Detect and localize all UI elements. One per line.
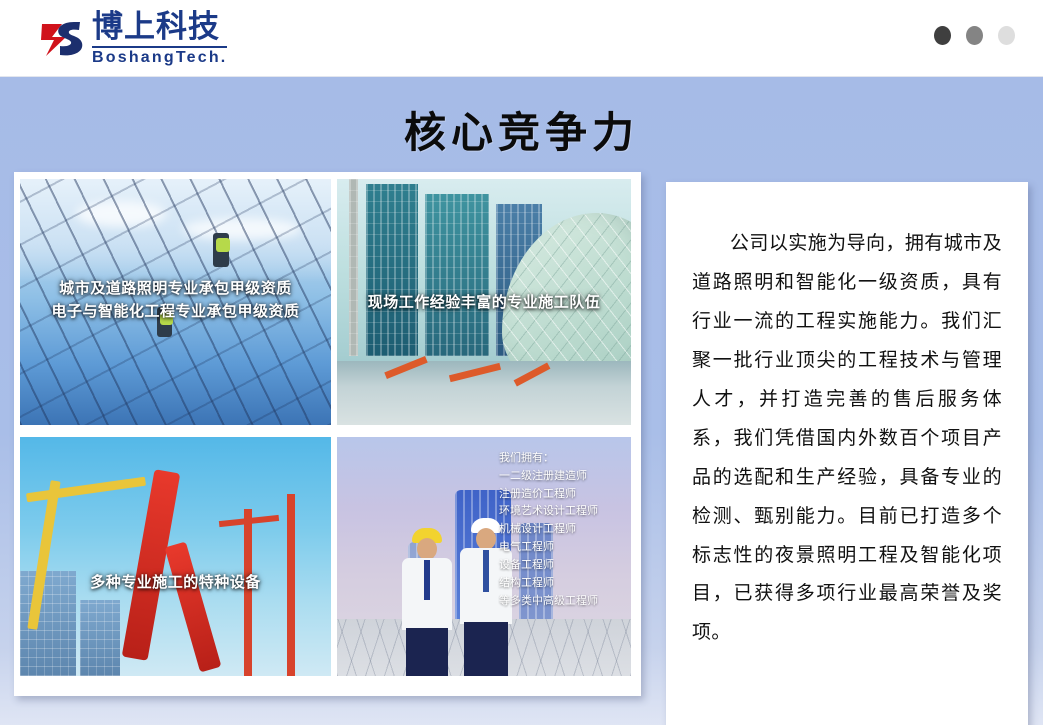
- logo-english-name: BoshangTech.: [92, 46, 227, 66]
- skill-list-item: 机械设计工程师: [499, 520, 621, 538]
- company-logo[interactable]: 博上科技 BoshangTech.: [40, 12, 227, 66]
- photo-caption: 多种专业施工的特种设备: [20, 571, 331, 594]
- caption-line-1: 多种专业施工的特种设备: [90, 573, 261, 591]
- boshang-logo-mark-icon: [40, 18, 86, 60]
- logo-chinese-name: 博上科技: [92, 12, 227, 43]
- window-dot-mid[interactable]: [966, 26, 983, 45]
- window-dot-dark[interactable]: [934, 26, 951, 45]
- photo-caption: 现场工作经验丰富的专业施工队伍: [337, 291, 631, 314]
- engineer-trousers: [406, 628, 448, 676]
- engineer-trousers: [464, 622, 508, 676]
- aerial-lift-boom: [164, 542, 221, 673]
- tower-building: [366, 184, 418, 356]
- skill-list-item: 电气工程师: [499, 538, 621, 556]
- photo-special-equipment[interactable]: 多种专业施工的特种设备: [20, 437, 331, 676]
- photo-glass-facade[interactable]: 城市及道路照明专业承包甲级资质 电子与智能化工程专业承包甲级资质: [20, 179, 331, 425]
- image-grid: 城市及道路照明专业承包甲级资质 电子与智能化工程专业承包甲级资质 现场工作经验丰…: [20, 179, 635, 674]
- photo-construction-site[interactable]: 现场工作经验丰富的专业施工队伍: [337, 179, 631, 425]
- logo-text-block: 博上科技 BoshangTech.: [92, 12, 227, 66]
- photo-engineers[interactable]: 我们拥有： 一二级注册建造师 注册造价工程师 环境艺术设计工程师 机械设计工程师…: [337, 437, 631, 676]
- caption-line-2: 电子与智能化工程专业承包甲级资质: [51, 302, 299, 320]
- engineer-head: [476, 528, 496, 550]
- caption-line-1: 现场工作经验丰富的专业施工队伍: [368, 293, 601, 311]
- description-paragraph: 公司以实施为导向，拥有城市及道路照明和智能化一级资质，具有行业一流的工程实施能力…: [692, 224, 1002, 652]
- engineer-head: [417, 538, 437, 560]
- description-card: 公司以实施为导向，拥有城市及道路照明和智能化一级资质，具有行业一流的工程实施能力…: [666, 182, 1028, 725]
- slide-canvas: 核心竞争力 城市及道路照明专业承包甲级资质 电子与智能化工程专业承包甲级资质: [0, 77, 1043, 725]
- photo-caption: 城市及道路照明专业承包甲级资质 电子与智能化工程专业承包甲级资质: [20, 277, 331, 324]
- worker-vest: [216, 238, 230, 252]
- page-title: 核心竞争力: [0, 99, 1043, 160]
- app-header: 博上科技 BoshangTech.: [0, 0, 1043, 77]
- window-dot-light[interactable]: [998, 26, 1015, 45]
- engineer-figure-left: [396, 528, 458, 676]
- background-building: [80, 600, 120, 676]
- tower-building: [425, 194, 489, 356]
- window-controls[interactable]: [934, 26, 1015, 45]
- engineer-tie: [424, 560, 430, 600]
- skill-list-item: 结构工程师: [499, 574, 621, 592]
- skill-list-heading: 我们拥有：: [499, 449, 621, 467]
- skill-list-item: 环境艺术设计工程师: [499, 502, 621, 520]
- caption-line-1: 城市及道路照明专业承包甲级资质: [59, 279, 292, 297]
- skill-list-item: 注册造价工程师: [499, 485, 621, 503]
- image-collage-card: 城市及道路照明专业承包甲级资质 电子与智能化工程专业承包甲级资质 现场工作经验丰…: [14, 172, 641, 696]
- skill-list-item: 设备工程师: [499, 556, 621, 574]
- skill-list-item: 等多类中高级工程师: [499, 592, 621, 610]
- skill-list: 我们拥有： 一二级注册建造师 注册造价工程师 环境艺术设计工程师 机械设计工程师…: [499, 449, 621, 609]
- mast-climber: [349, 179, 358, 356]
- skill-list-item: 一二级注册建造师: [499, 467, 621, 485]
- engineer-tie: [483, 550, 489, 592]
- crane-jib: [26, 476, 146, 502]
